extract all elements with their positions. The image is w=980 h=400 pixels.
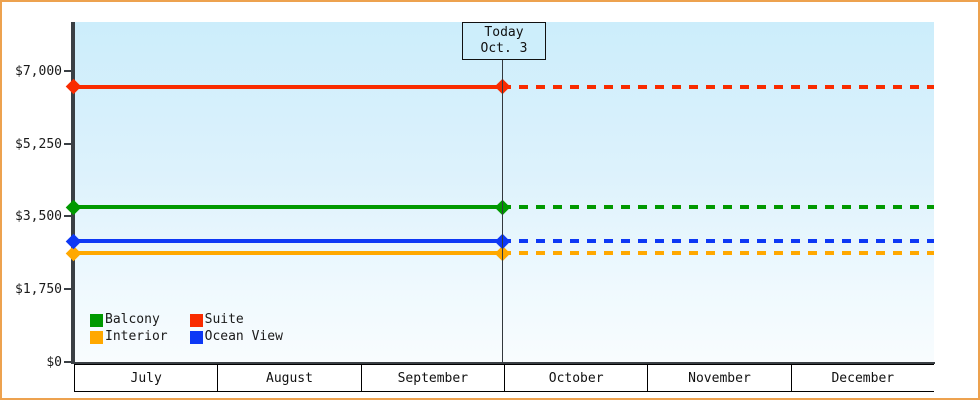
y-axis-tick-label: $7,000 — [4, 65, 62, 78]
series-forecast-suite — [502, 85, 934, 89]
x-axis-month-december: December — [792, 365, 934, 391]
x-axis-month-august: August — [218, 365, 361, 391]
x-axis-month-bar: JulyAugustSeptemberOctoberNovemberDecemb… — [74, 364, 934, 392]
y-axis-tick-label: $3,500 — [4, 210, 62, 223]
series-forecast-interior — [502, 251, 934, 255]
y-axis-tick — [64, 70, 72, 72]
y-axis-tick — [64, 361, 72, 363]
y-axis-tick — [64, 288, 72, 290]
series-line-suite — [74, 85, 502, 89]
legend-swatch-icon — [90, 331, 103, 344]
x-axis-month-september: September — [362, 365, 505, 391]
legend-label: Suite — [205, 313, 244, 327]
x-axis-month-october: October — [505, 365, 648, 391]
y-axis-line — [71, 22, 75, 363]
series-line-ocean-view — [74, 239, 502, 243]
plot-area — [74, 22, 934, 362]
chart-screenshot: $7,000$5,250$3,500$1,750$0 Today Oct. 3 … — [0, 0, 980, 400]
y-axis-tick — [64, 143, 72, 145]
x-axis-month-november: November — [648, 365, 791, 391]
y-axis-tick-label: $0 — [4, 356, 62, 369]
x-axis-month-july: July — [74, 365, 218, 391]
y-axis-tick — [64, 215, 72, 217]
legend-item-ocean-view[interactable]: Ocean View — [190, 330, 283, 344]
series-line-balcony — [74, 205, 502, 209]
legend-item-suite[interactable]: Suite — [190, 313, 283, 327]
chart-legend: BalconySuiteInteriorOcean View — [90, 313, 283, 344]
series-line-interior — [74, 251, 502, 255]
today-vertical-line — [502, 60, 503, 362]
y-axis-tick-label: $5,250 — [4, 138, 62, 151]
series-forecast-balcony — [502, 205, 934, 209]
legend-swatch-icon — [190, 314, 203, 327]
legend-swatch-icon — [190, 331, 203, 344]
today-annotation-box: Today Oct. 3 — [462, 22, 546, 60]
today-label-line1: Today — [484, 25, 523, 41]
legend-label: Balcony — [105, 313, 160, 327]
y-axis-labels: $7,000$5,250$3,500$1,750$0 — [2, 2, 62, 400]
legend-label: Ocean View — [205, 330, 283, 344]
y-axis-tick-label: $1,750 — [4, 283, 62, 296]
legend-item-balcony[interactable]: Balcony — [90, 313, 168, 327]
legend-swatch-icon — [90, 314, 103, 327]
legend-label: Interior — [105, 330, 168, 344]
today-label-line2: Oct. 3 — [481, 41, 528, 57]
legend-item-interior[interactable]: Interior — [90, 330, 168, 344]
series-forecast-ocean-view — [502, 239, 934, 243]
